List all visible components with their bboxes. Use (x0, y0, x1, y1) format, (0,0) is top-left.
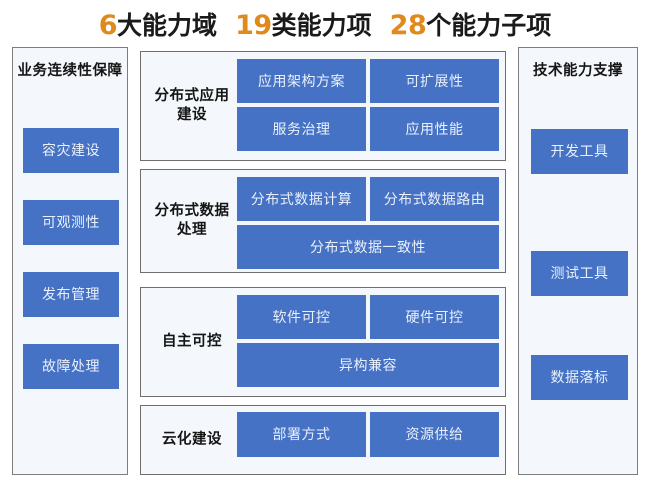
right-column-heading: 技术能力支撑 (519, 62, 637, 81)
capability-domain-distributed-application: 分布式应用建设 应用架构方案 可扩展性 服务治理 应用性能 (140, 51, 506, 161)
left-column-heading: 业务连续性保障 (13, 62, 127, 81)
group-items-distributed-application: 应用架构方案 可扩展性 服务治理 应用性能 (237, 59, 499, 153)
title-segment-0: 6大能力域 (99, 6, 217, 42)
group-label-distributed-data: 分布式数据处理 (149, 202, 235, 240)
capability-item-development-tools[interactable]: 开发工具 (531, 129, 628, 174)
title-number-1: 19 (235, 10, 272, 41)
capability-item-data-standard[interactable]: 数据落标 (531, 355, 628, 400)
group-items-cloud-construction: 部署方式 资源供给 (237, 412, 499, 468)
capability-domain-technical-support: 技术能力支撑 开发工具 测试工具 数据落标 (518, 47, 638, 475)
capability-item-observability[interactable]: 可观测性 (23, 200, 119, 245)
capability-item-distributed-consistency[interactable]: 分布式数据一致性 (237, 225, 499, 269)
capability-item-distributed-routing[interactable]: 分布式数据路由 (370, 177, 499, 221)
capability-domain-autonomous-control: 自主可控 软件可控 硬件可控 异构兼容 (140, 287, 506, 397)
capability-item-scalability[interactable]: 可扩展性 (370, 59, 499, 103)
group-label-distributed-application: 分布式应用建设 (149, 87, 235, 125)
group-row: 软件可控 硬件可控 (237, 295, 499, 339)
capability-item-distributed-computing[interactable]: 分布式数据计算 (237, 177, 366, 221)
capability-item-heterogeneous-compatibility[interactable]: 异构兼容 (237, 343, 499, 387)
title-text-1: 类能力项 (272, 12, 372, 40)
group-label-autonomous-control: 自主可控 (149, 333, 235, 352)
capability-domain-distributed-data: 分布式数据处理 分布式数据计算 分布式数据路由 分布式数据一致性 (140, 169, 506, 273)
title-text-0: 大能力域 (117, 12, 217, 40)
group-items-distributed-data: 分布式数据计算 分布式数据路由 分布式数据一致性 (237, 177, 499, 265)
group-row: 分布式数据计算 分布式数据路由 (237, 177, 499, 221)
title-number-2: 28 (390, 10, 427, 41)
group-row: 应用架构方案 可扩展性 (237, 59, 499, 103)
capability-item-software-controllable[interactable]: 软件可控 (237, 295, 366, 339)
capability-item-fault-handling[interactable]: 故障处理 (23, 344, 119, 389)
group-row: 异构兼容 (237, 343, 499, 387)
capability-item-deployment-mode[interactable]: 部署方式 (237, 412, 366, 457)
capability-item-disaster-recovery[interactable]: 容灾建设 (23, 128, 119, 173)
capability-item-hardware-controllable[interactable]: 硬件可控 (370, 295, 499, 339)
title-segment-2: 28个能力子项 (390, 6, 552, 42)
group-row: 部署方式 资源供给 (237, 412, 499, 457)
page-title: 6大能力域19类能力项28个能力子项 (0, 6, 650, 42)
capability-item-application-architecture[interactable]: 应用架构方案 (237, 59, 366, 103)
capability-item-application-performance[interactable]: 应用性能 (370, 107, 499, 151)
group-row: 服务治理 应用性能 (237, 107, 499, 151)
capability-domain-cloud-construction: 云化建设 部署方式 资源供给 (140, 405, 506, 475)
capability-item-service-governance[interactable]: 服务治理 (237, 107, 366, 151)
group-label-cloud-construction: 云化建设 (149, 431, 235, 450)
capability-item-resource-supply[interactable]: 资源供给 (370, 412, 499, 457)
title-number-0: 6 (99, 10, 117, 41)
title-text-2: 个能力子项 (426, 12, 551, 40)
capability-domain-business-continuity: 业务连续性保障 容灾建设 可观测性 发布管理 故障处理 (12, 47, 128, 475)
capability-item-release-management[interactable]: 发布管理 (23, 272, 119, 317)
group-items-autonomous-control: 软件可控 硬件可控 异构兼容 (237, 295, 499, 389)
group-row: 分布式数据一致性 (237, 225, 499, 269)
capability-item-testing-tools[interactable]: 测试工具 (531, 251, 628, 296)
title-segment-1: 19类能力项 (235, 6, 372, 42)
